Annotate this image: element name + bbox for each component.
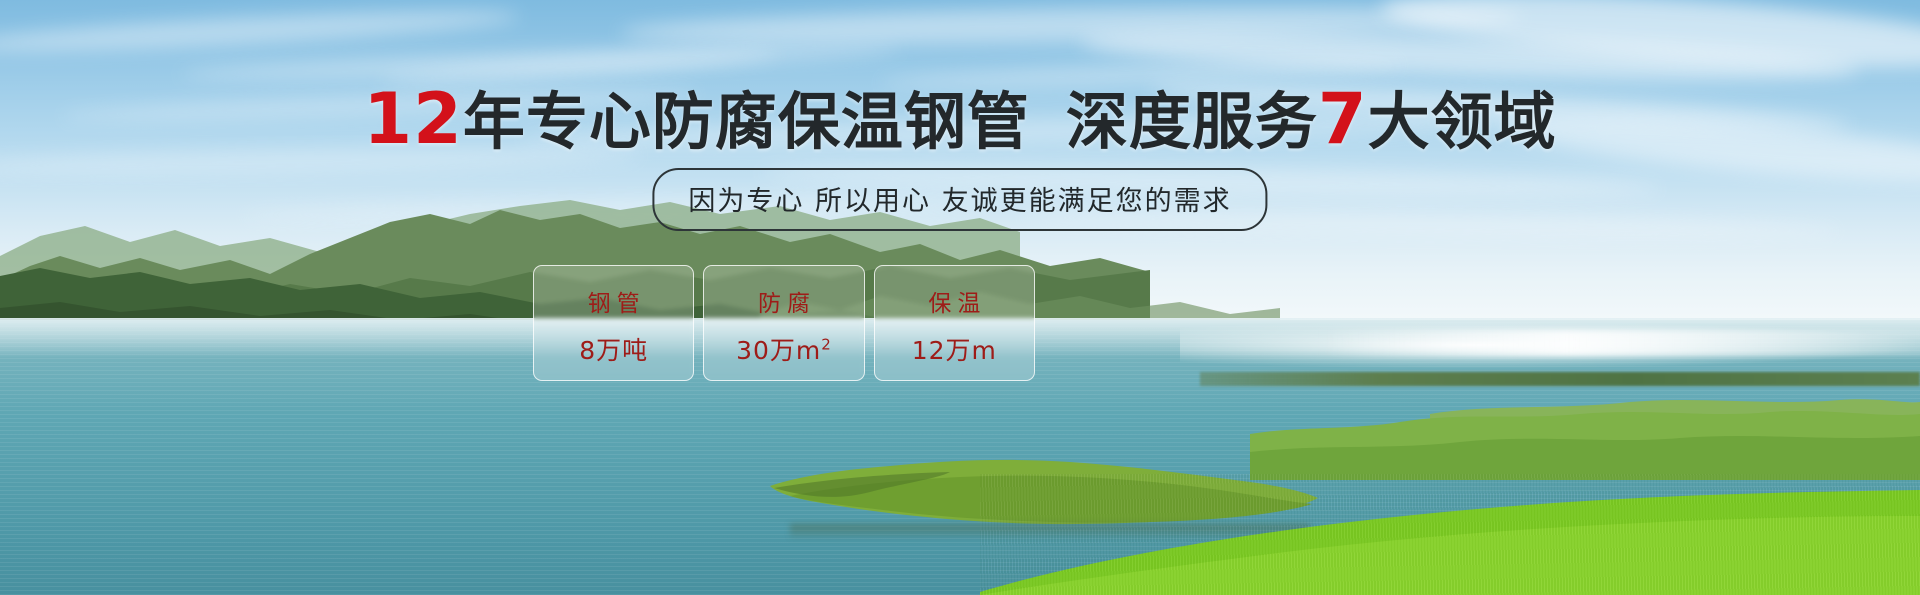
stat-card-insulation[interactable]: 保温 12万m (874, 265, 1035, 381)
promo-banner: 12年专心防腐保温钢管深度服务7大领域 因为专心 所以用心 友诚更能满足您的需求… (0, 0, 1920, 595)
stat-value: 12万m (912, 331, 997, 367)
stat-value: 30万m2 (736, 331, 832, 367)
stat-label: 保温 (922, 284, 986, 318)
grass-blade-texture (980, 474, 1920, 595)
distant-shoreline (1200, 372, 1920, 386)
stat-card-anticorrosion[interactable]: 防腐 30万m2 (703, 265, 864, 381)
headline-service-text: 深度服务 (1066, 85, 1318, 158)
stat-value-text: 30万m (736, 336, 821, 365)
stat-value-text: 8万吨 (579, 336, 648, 365)
banner-headline: 12年专心防腐保温钢管深度服务7大领域 (0, 84, 1920, 154)
stat-value-superscript: 2 (821, 335, 832, 353)
stat-label: 防腐 (752, 284, 816, 318)
stat-label: 钢管 (582, 284, 646, 318)
headline-fields-text: 大领域 (1368, 85, 1557, 158)
stat-value: 8万吨 (579, 331, 648, 367)
marsh-wetland (1250, 400, 1920, 480)
stat-card-group: 钢管 8万吨 防腐 30万m2 保温 12万m (533, 265, 1035, 381)
headline-years-number: 12 (363, 78, 462, 160)
water-glare-band (1320, 330, 1920, 356)
subtitle-pill: 因为专心 所以用心 友诚更能满足您的需求 (652, 168, 1267, 231)
headline-main-text: 年专心防腐保温钢管 (463, 85, 1030, 158)
stat-card-steel-pipe[interactable]: 钢管 8万吨 (533, 265, 694, 381)
stat-value-text: 12万m (912, 336, 997, 365)
headline-fields-number: 7 (1318, 78, 1368, 160)
